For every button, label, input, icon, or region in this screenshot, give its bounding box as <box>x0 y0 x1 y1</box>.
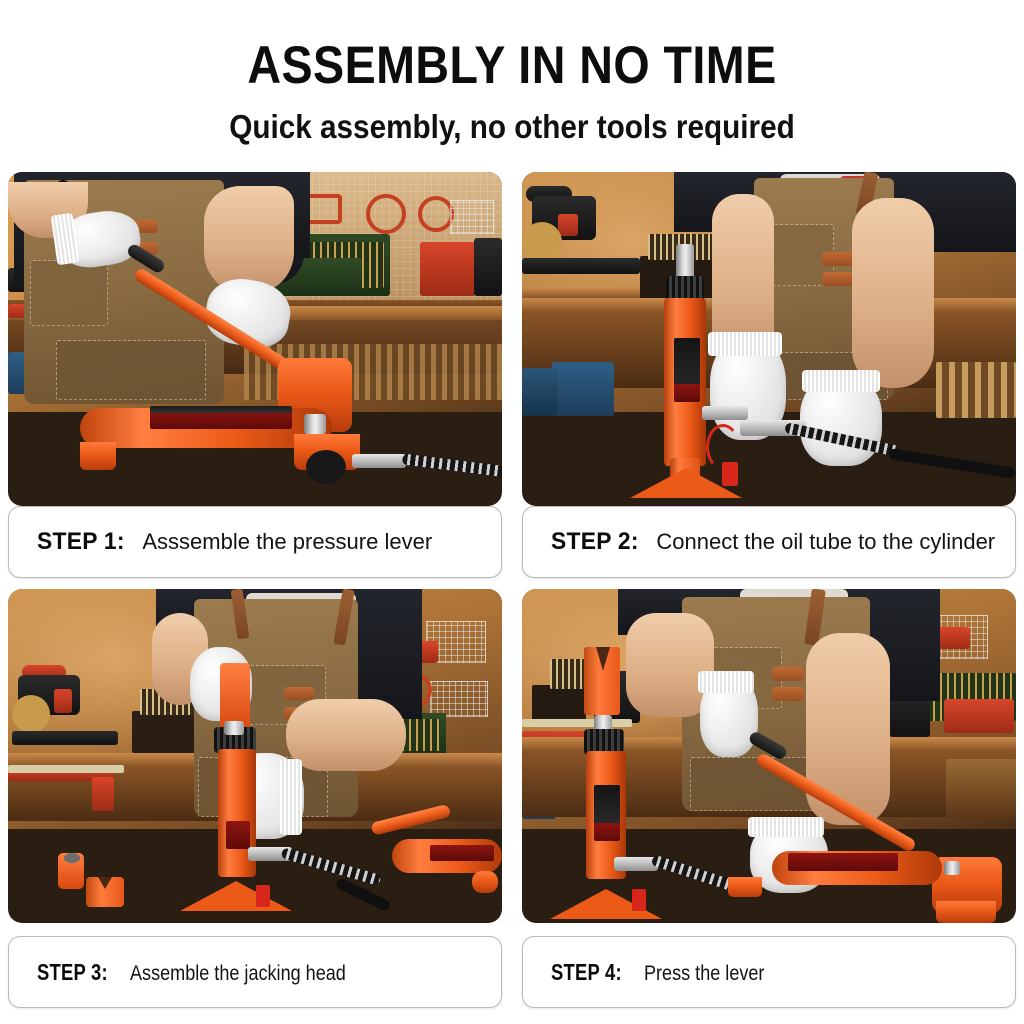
red-bracket <box>92 777 114 811</box>
step-1-photo <box>8 172 502 506</box>
wire-basket <box>450 200 494 234</box>
product-infographic: ASSEMBLY IN NO TIME Quick assembly, no o… <box>0 0 1024 1024</box>
step-1-panel <box>8 172 502 506</box>
pump-pin <box>304 414 326 434</box>
step-2-panel <box>522 172 1016 506</box>
glove-cuff <box>802 370 880 392</box>
red-toolbox <box>420 242 476 296</box>
pump-foot-left <box>728 877 762 897</box>
step-3-text: Assemble the jacking head <box>130 962 346 986</box>
cylinder-base <box>180 881 292 911</box>
red-clamp <box>936 627 970 649</box>
hanging-clamp-icon <box>366 194 406 234</box>
step-2-photo <box>522 172 1016 506</box>
level-bar <box>8 765 124 773</box>
apron-lower-pocket <box>56 340 206 400</box>
cylinder-label-red <box>674 384 700 402</box>
apron-tab <box>822 272 856 286</box>
glove-cuff <box>698 671 754 693</box>
red-toolbox <box>944 699 1014 733</box>
oil-hose-braided <box>280 847 381 886</box>
level-bar <box>522 719 632 727</box>
apron-tab <box>284 687 314 700</box>
step-4-text: Press the lever <box>644 962 764 986</box>
pump-label-top <box>150 406 292 413</box>
step-4-panel <box>522 589 1016 923</box>
cylinder-ram <box>224 721 244 735</box>
release-knob <box>306 450 346 484</box>
step-4-caption: STEP 4: Press the lever <box>522 936 1016 1008</box>
hanging-clamp-icon <box>418 196 454 232</box>
worker-right-arm <box>204 186 294 294</box>
step-2-caption: STEP 2: Connect the oil tube to the cyli… <box>522 506 1016 578</box>
hose-coupler <box>352 454 406 468</box>
apron-pocket <box>30 260 108 326</box>
glove-cuff <box>280 759 302 835</box>
red-dust-cap <box>256 885 270 907</box>
worker-right-arm <box>286 699 406 771</box>
step-1-label: STEP 1: <box>37 528 125 556</box>
pump-label <box>788 853 898 871</box>
saw-table <box>522 288 658 298</box>
tool-handles-rack <box>936 362 1016 418</box>
wire-basket <box>430 681 488 717</box>
red-lanyard <box>706 424 740 470</box>
step-3-caption: STEP 3: Assemble the jacking head <box>8 936 502 1008</box>
step-3-photo <box>8 589 502 923</box>
oil-hose <box>335 877 392 912</box>
stool <box>946 759 1016 817</box>
apron-tab <box>772 687 804 701</box>
second-pump-label <box>430 845 494 861</box>
glove-cuff <box>748 817 824 837</box>
step-2-label: STEP 2: <box>551 528 639 556</box>
red-dust-cap <box>632 889 646 911</box>
page-title: ASSEMBLY IN NO TIME <box>61 38 962 94</box>
step-4-label: STEP 4: <box>551 959 622 986</box>
pump-foot-right <box>936 901 996 923</box>
apron-tab <box>822 252 856 266</box>
step-1-text: Asssemble the pressure lever <box>142 529 432 555</box>
pump-foot-left <box>80 442 116 470</box>
step-1-caption: STEP 1: Asssemble the pressure lever <box>8 506 502 578</box>
page-subtitle: Quick assembly, no other tools required <box>51 108 973 146</box>
worker-right-arm <box>852 198 934 388</box>
step-2-text: Connect the oil tube to the cylinder <box>656 529 995 555</box>
cylinder-label-red <box>594 823 620 841</box>
cylinder-label <box>226 821 250 849</box>
step-3-label: STEP 3: <box>37 959 108 986</box>
miter-saw <box>12 665 122 757</box>
step-3-panel <box>8 589 502 923</box>
second-pump-foot <box>472 871 498 893</box>
oil-tube-coupler <box>702 406 748 420</box>
step-4-photo <box>522 589 1016 923</box>
pump-pin <box>944 861 960 875</box>
blue-bin <box>522 368 558 416</box>
apron-tab <box>772 667 804 681</box>
glove-cuff <box>708 332 782 356</box>
adapter-bore <box>64 853 80 863</box>
oil-hose <box>402 454 502 478</box>
oil-hose <box>888 448 1016 479</box>
miter-saw <box>522 186 642 286</box>
dark-case <box>474 238 502 296</box>
blue-bin <box>552 362 614 416</box>
